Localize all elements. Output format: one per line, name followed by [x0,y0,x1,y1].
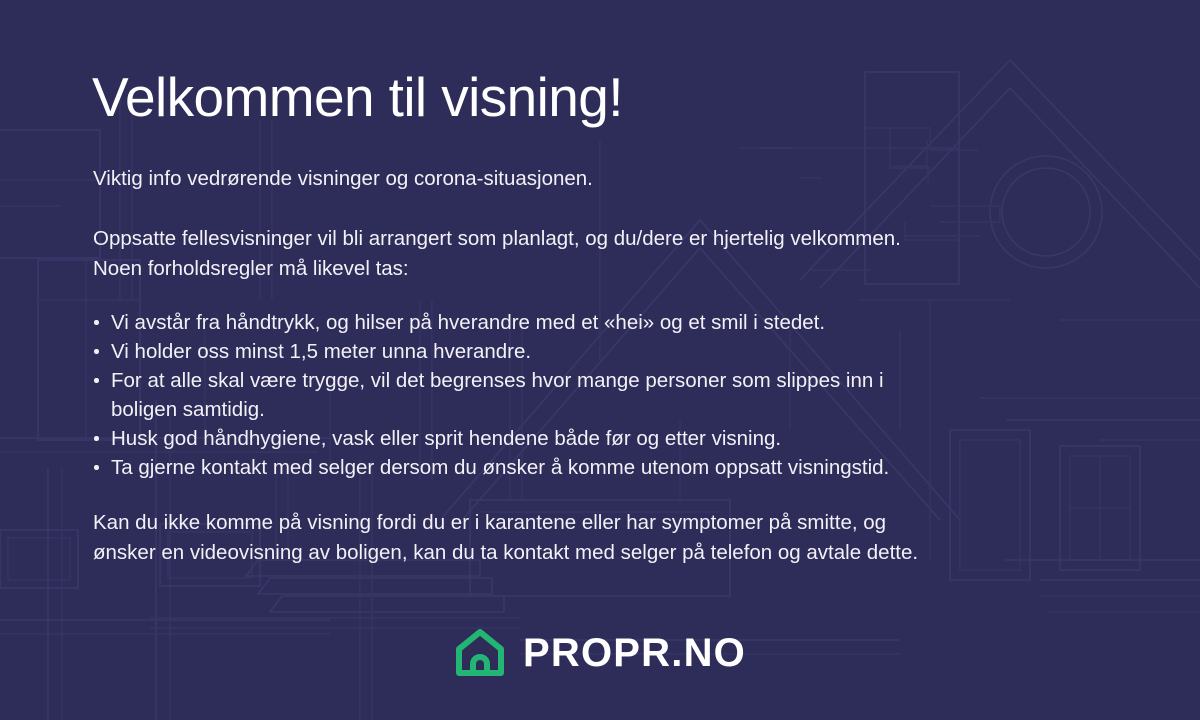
poster-canvas: Velkommen til visning! Viktig info vedrø… [0,0,1200,720]
list-item: For at alle skal være trygge, vil det be… [93,366,1143,424]
rule-line-2: boligen samtidig. [111,395,1143,424]
list-item: Vi avstår fra håndtrykk, og hilser på hv… [93,308,1143,337]
outro-paragraph: Kan du ikke komme på visning fordi du er… [93,508,1153,568]
outro-line-2: ønsker en videovisning av boligen, kan d… [93,538,1153,568]
bullet-dot-icon [94,465,99,470]
rule-line-1: Ta gjerne kontakt med selger dersom du ø… [111,453,1143,482]
page-title: Velkommen til visning! [92,66,623,128]
bullet-dot-icon [94,320,99,325]
rules-list: Vi avstår fra håndtrykk, og hilser på hv… [93,308,1143,482]
rule-line-1: For at alle skal være trygge, vil det be… [111,366,1143,395]
intro-paragraph: Oppsatte fellesvisninger vil bli arrange… [93,224,1133,284]
intro-line-1: Oppsatte fellesvisninger vil bli arrange… [93,224,1133,254]
rule-line-1: Vi holder oss minst 1,5 meter unna hvera… [111,337,1143,366]
poster-content: Velkommen til visning! Viktig info vedrø… [0,0,1200,720]
list-item: Vi holder oss minst 1,5 meter unna hvera… [93,337,1143,366]
outro-line-1: Kan du ikke komme på visning fordi du er… [93,508,1153,538]
list-item: Ta gjerne kontakt med selger dersom du ø… [93,453,1143,482]
rule-line-1: Vi avstår fra håndtrykk, og hilser på hv… [111,308,1143,337]
bullet-dot-icon [94,378,99,383]
subtitle: Viktig info vedrørende visninger og coro… [93,165,593,193]
rule-line-1: Husk god håndhygiene, vask eller sprit h… [111,424,1143,453]
list-item: Husk god håndhygiene, vask eller sprit h… [93,424,1143,453]
bullet-dot-icon [94,436,99,441]
brand-logo: PROPR.NO [0,628,1200,678]
intro-line-2: Noen forholdsregler må likevel tas: [93,254,1133,284]
house-outline-icon [454,628,506,678]
bullet-dot-icon [94,349,99,354]
brand-wordmark: PROPR.NO [523,633,746,673]
